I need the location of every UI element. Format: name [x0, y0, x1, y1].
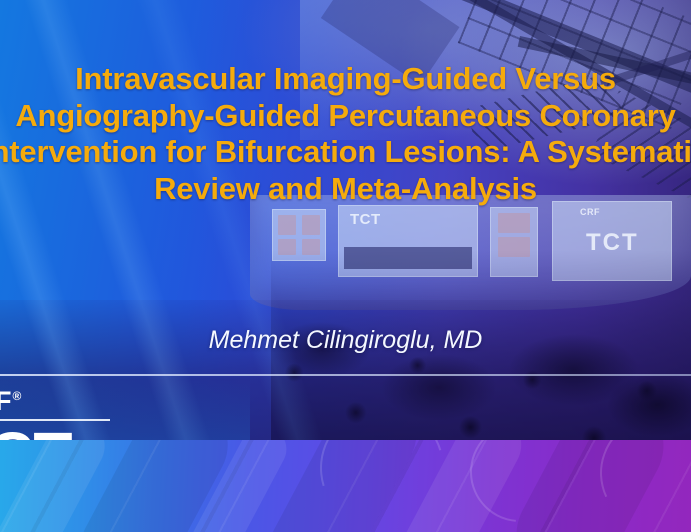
title-line-3: Intervention for Bifurcation Lesions: A … [0, 135, 691, 172]
crf-registered-mark: ® [13, 389, 23, 403]
crf-logo-text: CRF [0, 386, 13, 416]
title-line-1: Intravascular Imaging-Guided Versus [0, 62, 691, 99]
logo-divider [0, 419, 110, 421]
crf-logo: CRF® [0, 388, 22, 415]
title-line-4: Review and Meta-Analysis [0, 172, 691, 209]
author-divider [0, 374, 691, 376]
bottom-gradient-band [0, 440, 691, 532]
author-name: Mehmet Cilingiroglu, MD [0, 326, 691, 355]
page-title: Intravascular Imaging-Guided Versus Angi… [0, 62, 691, 208]
speaker-thumbnail [498, 213, 530, 233]
title-line-2: Angiography-Guided Percutaneous Coronary [0, 99, 691, 136]
presentation-title-slide: TCT CRF TCT Intravascular Imaging-Guided… [0, 0, 691, 532]
stage-screen-logo-crf: CRF [580, 207, 600, 217]
